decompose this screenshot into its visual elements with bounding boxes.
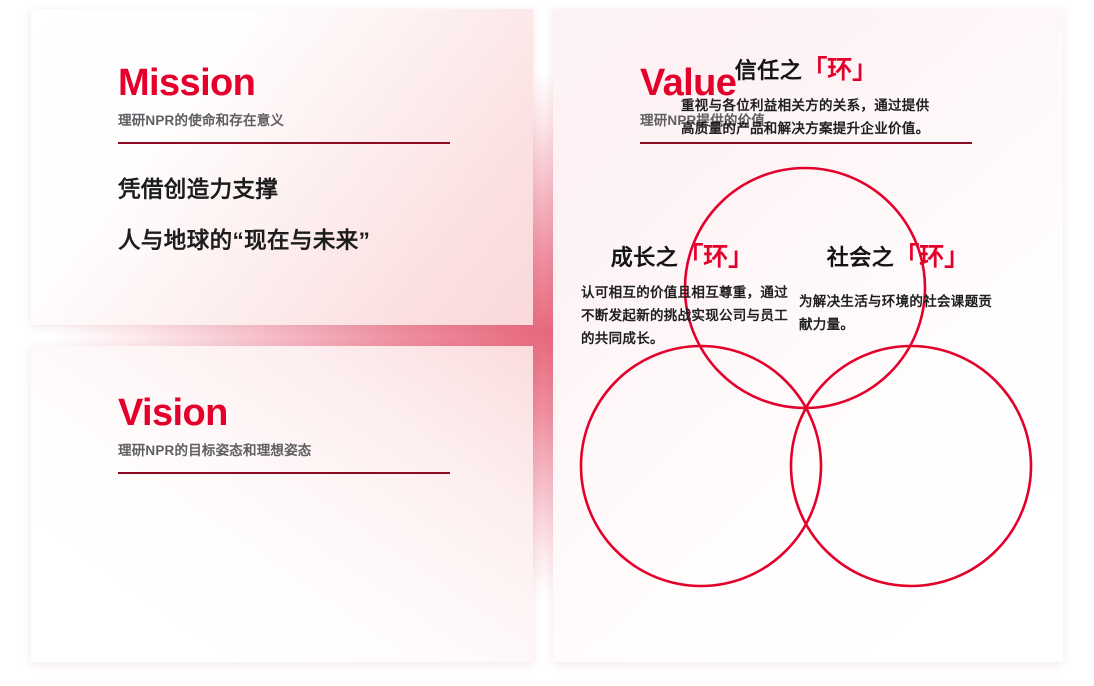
venn-circle-social <box>791 346 1031 586</box>
mission-statement-1: 凭借创造力支撑 <box>118 177 508 204</box>
venn-title-growth: 成长之「环」 <box>575 244 789 272</box>
venn-circle-growth <box>581 346 821 586</box>
venn-title-trust-ring: 「环」 <box>802 56 877 84</box>
page-root: Mission 理研NPR的使命和存在意义 凭借创造力支撑 人与地球的“现在与未… <box>0 0 1094 686</box>
venn-title-trust: 信任之「环」 <box>681 57 931 85</box>
vision-heading-block: Vision 理研NPR的目标姿态和理想姿态 <box>118 394 450 474</box>
venn-title-growth-prefix: 成长之 <box>611 245 679 270</box>
venn-body-growth: 认可相互的价值且相互尊重，通过不断发起新的挑战实现公司与员工的共同成长。 <box>575 281 789 351</box>
mission-statement-list: 凭借创造力支撑 人与地球的“现在与未来” <box>118 177 508 254</box>
panel-vision: Vision 理研NPR的目标姿态和理想姿态 通过人与技术的融合创造革新 不断向… <box>31 346 533 662</box>
mission-heading-block: Mission 理研NPR的使命和存在意义 <box>118 64 450 144</box>
venn-title-growth-ring: 「环」 <box>678 243 753 271</box>
venn-label-growth: 成长之「环」 认可相互的价值且相互尊重，通过不断发起新的挑战实现公司与员工的共同… <box>575 244 789 350</box>
mission-subtitle: 理研NPR的使命和存在意义 <box>118 113 450 129</box>
vision-divider <box>118 472 450 474</box>
venn-title-social-ring: 「环」 <box>894 243 969 271</box>
venn-label-social: 社会之「环」 为解决生活与环境的社会课题贡献力量。 <box>791 244 1005 336</box>
panel-value: Value 理研NPR提供的价值 信任之「环」 重视与各位利益相关方的关系，通过… <box>553 9 1063 662</box>
venn-title-social: 社会之「环」 <box>791 244 1005 272</box>
venn-title-social-prefix: 社会之 <box>827 245 895 270</box>
venn-title-trust-prefix: 信任之 <box>735 58 803 83</box>
vision-subtitle: 理研NPR的目标姿态和理想姿态 <box>118 443 450 459</box>
mission-statement-2: 人与地球的“现在与未来” <box>118 228 508 255</box>
mission-title: Mission <box>118 64 450 102</box>
vision-title: Vision <box>118 394 450 432</box>
venn-label-trust: 信任之「环」 重视与各位利益相关方的关系，通过提供高质量的产品和解决方案提升企业… <box>681 57 931 140</box>
mission-divider <box>118 142 450 144</box>
panel-mission: Mission 理研NPR的使命和存在意义 凭借创造力支撑 人与地球的“现在与未… <box>31 9 533 325</box>
venn-body-social: 为解决生活与环境的社会课题贡献力量。 <box>791 290 1005 336</box>
venn-body-trust: 重视与各位利益相关方的关系，通过提供高质量的产品和解决方案提升企业价值。 <box>681 94 931 140</box>
